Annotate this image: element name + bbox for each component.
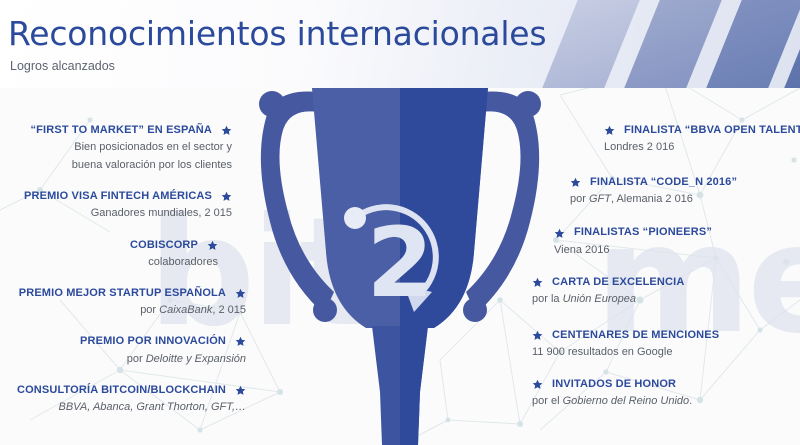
award-subtitle: Bien posicionados en el sector y <box>0 140 250 155</box>
award-subtitle: por la Unión Europea <box>532 292 800 307</box>
award-title: CONSULTORÍA BITCOIN/BLOCKCHAIN <box>0 384 250 397</box>
star-icon <box>235 336 246 347</box>
awards-column-right: FINALISTA “BBVA OPEN TALENT”Londres 2 01… <box>532 124 800 422</box>
award-title-text: FINALISTA “BBVA OPEN TALENT” <box>624 124 800 137</box>
award-item: PREMIO VISA FINTECH AMÉRICASGanadores mu… <box>0 190 250 221</box>
award-subtitle: buena valoración por los clientes <box>0 158 250 173</box>
award-subtitle: Ganadores mundiales, 2 015 <box>0 206 250 221</box>
award-subtitle: Londres 2 016 <box>532 140 800 155</box>
star-icon <box>207 240 218 251</box>
star-icon <box>235 288 246 299</box>
award-item: PREMIO MEJOR STARTUP ESPAÑOLApor CaixaBa… <box>0 287 250 318</box>
page-title: Reconocimientos internacionales <box>8 14 546 53</box>
award-subtitle: por CaixaBank, 2 015 <box>0 303 250 318</box>
star-icon <box>532 330 543 341</box>
award-item: INVITADOS DE HONORpor el Gobierno del Re… <box>532 378 800 409</box>
award-title-text: FINALISTAS “PIONEERS” <box>574 226 712 239</box>
award-item: PREMIO POR INNOVACIÓNpor Deloitte y Expa… <box>0 335 250 366</box>
award-title: FINALISTA “CODE_N 2016” <box>532 176 800 189</box>
slide-canvas: bit me <box>0 0 800 445</box>
award-subtitle: Viena 2016 <box>532 243 800 258</box>
award-title-text: CONSULTORÍA BITCOIN/BLOCKCHAIN <box>17 384 226 397</box>
award-title-text: FINALISTA “CODE_N 2016” <box>590 176 737 189</box>
award-title-text: “FIRST TO MARKET” EN ESPAÑA <box>31 124 212 137</box>
award-title: PREMIO VISA FINTECH AMÉRICAS <box>0 190 250 203</box>
award-title-text: CENTENARES DE MENCIONES <box>552 329 719 342</box>
award-title: INVITADOS DE HONOR <box>532 378 800 391</box>
slide-header: Reconocimientos internacionales Logros a… <box>0 0 800 88</box>
award-title-text: PREMIO MEJOR STARTUP ESPAÑOLA <box>19 287 226 300</box>
award-subtitle: por el Gobierno del Reino Unido. <box>532 394 800 409</box>
award-subtitle: por GFT, Alemania 2 016 <box>532 192 800 207</box>
star-icon <box>235 385 246 396</box>
diagonal-stripes-decoration <box>540 0 800 88</box>
award-title: FINALISTA “BBVA OPEN TALENT” <box>532 124 800 137</box>
trophy-badge-number: 2 <box>367 207 434 319</box>
award-item: FINALISTA “CODE_N 2016”por GFT, Alemania… <box>532 176 800 207</box>
award-subtitle: por Deloitte y Expansión <box>0 352 250 367</box>
award-subtitle: 11 900 resultados en Google <box>532 345 800 360</box>
awards-column-left: “FIRST TO MARKET” EN ESPAÑABien posicion… <box>0 124 250 429</box>
award-title-text: CARTA DE EXCELENCIA <box>552 276 684 289</box>
award-title: PREMIO POR INNOVACIÓN <box>0 335 250 348</box>
award-item: CARTA DE EXCELENCIApor la Unión Europea <box>532 276 800 307</box>
award-subtitle: colaboradores <box>0 255 250 270</box>
award-item: “FIRST TO MARKET” EN ESPAÑABien posicion… <box>0 124 250 172</box>
award-title: “FIRST TO MARKET” EN ESPAÑA <box>0 124 250 137</box>
award-item: CENTENARES DE MENCIONES11 900 resultados… <box>532 329 800 360</box>
award-item: CONSULTORÍA BITCOIN/BLOCKCHAINBBVA, Aban… <box>0 384 250 415</box>
star-icon <box>604 125 615 136</box>
award-title: FINALISTAS “PIONEERS” <box>532 226 800 239</box>
award-item: FINALISTA “BBVA OPEN TALENT”Londres 2 01… <box>532 124 800 155</box>
award-title-text: INVITADOS DE HONOR <box>552 378 676 391</box>
star-icon <box>570 177 581 188</box>
award-item: FINALISTAS “PIONEERS”Viena 2016 <box>532 226 800 257</box>
star-icon <box>554 228 565 239</box>
award-title: CENTENARES DE MENCIONES <box>532 329 800 342</box>
star-icon <box>221 191 232 202</box>
award-title: CARTA DE EXCELENCIA <box>532 276 800 289</box>
award-title-text: COBISCORP <box>130 239 198 252</box>
star-icon <box>532 379 543 390</box>
award-item: COBISCORPcolaboradores <box>0 239 250 270</box>
award-title: PREMIO MEJOR STARTUP ESPAÑOLA <box>0 287 250 300</box>
award-subtitle: BBVA, Abanca, Grant Thorton, GFT,… <box>0 400 250 415</box>
award-title: COBISCORP <box>0 239 250 252</box>
star-icon <box>221 125 232 136</box>
star-icon <box>532 277 543 288</box>
award-title-text: PREMIO VISA FINTECH AMÉRICAS <box>24 190 212 203</box>
award-title-text: PREMIO POR INNOVACIÓN <box>80 335 226 348</box>
page-subtitle: Logros alcanzados <box>10 59 115 73</box>
